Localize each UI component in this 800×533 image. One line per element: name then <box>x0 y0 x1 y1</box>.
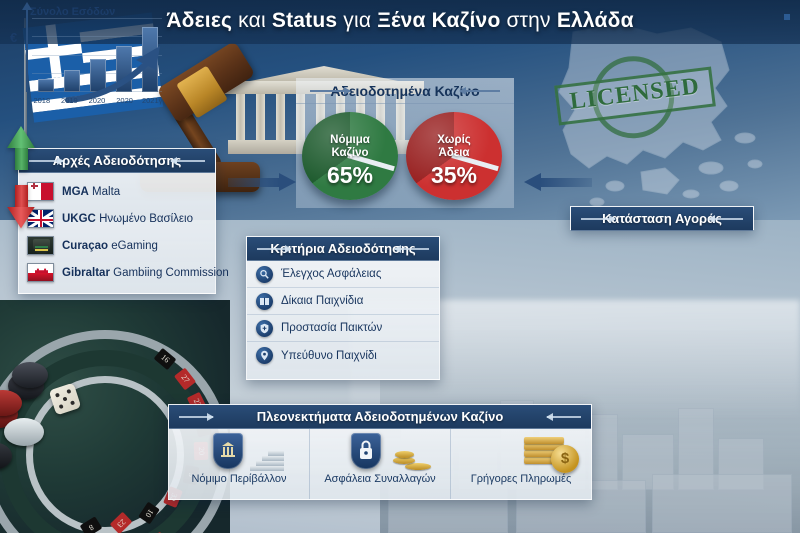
chart-x-label: 2020 <box>111 96 139 105</box>
benefits-heading-text: Πλεονεκτήματα Αδειοδοτημένων Καζίνο <box>257 409 504 424</box>
list-item[interactable]: UKGC Ηνωμένο Βασίλειο <box>27 205 215 232</box>
list-item[interactable]: Νόμιμο Περίβάλλον <box>169 429 309 499</box>
title-part-3: Status <box>272 9 337 32</box>
authority-desc: eGaming <box>108 240 158 252</box>
authority-label: UKGC Ηνωμένο Βασίλειο <box>62 213 193 225</box>
benefits-list: Νόμιμο Περίβάλλον <box>169 429 591 499</box>
infographic-canvas: 16 27 23 9 20 5 32 10 23 8 18 <box>0 0 800 533</box>
licensed-casinos-section: Αδειοδοτημένα Καζίνο Νόμιμα Καζίνο 65% Χ… <box>296 78 514 208</box>
curacao-badge-icon <box>27 236 54 255</box>
criteria-label: Προστασία Παικτών <box>281 322 382 334</box>
pie-section-heading: Αδειοδοτημένα Καζίνο <box>296 78 514 104</box>
heading-arrow-right-icon <box>395 248 429 250</box>
pie-label-line2: Καζίνο <box>331 147 368 159</box>
title-part-5: Ξένα Καζίνο <box>377 9 500 32</box>
criteria-label: Δίκαια Παιχνίδια <box>281 295 363 307</box>
pie-label-line1: Χωρίς <box>437 134 471 146</box>
market-status-heading: Κατάσταση Αγοράς <box>571 207 753 231</box>
list-item[interactable]: Προστασία Παικτών <box>247 315 439 342</box>
pie-percent-legal: 65% <box>302 162 398 189</box>
heading-arrow-left-icon <box>310 90 350 92</box>
heading-arrow-left-icon <box>257 248 291 250</box>
pie-heading-text: Αδειοδοτημένα Καζίνο <box>330 83 479 99</box>
benefit-label: Νόμιμο Περίβάλλον <box>169 473 309 485</box>
connector-arrow-left <box>524 173 592 191</box>
criteria-list: Έλεγχος Ασφάλειας Δίκαια Παιχνίδια Προστ… <box>247 261 439 369</box>
chart-x-label: 2021γ <box>138 96 166 105</box>
chart-title: Σύνολο Εσόδων <box>30 6 115 18</box>
pie-percent-unlicensed: 35% <box>406 162 502 189</box>
chart-plot-area <box>32 18 162 92</box>
heading-arrow-left-icon <box>581 218 615 220</box>
chart-x-label: 2019 <box>56 96 84 105</box>
location-pin-icon <box>256 347 273 364</box>
chart-x-labels: 2018 2019 2020 2020 2021γ <box>28 96 166 105</box>
licensing-authorities-panel: Αρχές Αδειοδότησης MGA Malta UKGC Ηνωμέν… <box>18 148 216 294</box>
market-status-heading-panel: Κατάσταση Αγοράς <box>570 206 754 230</box>
chart-x-label: 2020 <box>83 96 111 105</box>
bank-shield-icon <box>169 429 309 473</box>
list-item[interactable]: Ασφάλεια Συναλλαγών <box>309 429 450 499</box>
list-item[interactable]: Curaçao eGaming <box>27 232 215 259</box>
pie-label-line1: Νόμιμα <box>330 134 370 146</box>
authority-desc: Ηνωμένο Βασίλειο <box>96 213 193 225</box>
money-coin-icon: $ <box>451 429 591 473</box>
list-item[interactable]: $ Γρήγορες Πληρωμές <box>450 429 591 499</box>
authority-label: Gibraltar Gambiing Commission <box>62 267 229 279</box>
authority-name: Curaçao <box>62 240 108 252</box>
gibraltar-flag-icon <box>27 263 54 282</box>
chart-x-label: 2018 <box>28 96 56 105</box>
benefit-label: Γρήγορες Πληρωμές <box>451 473 591 485</box>
book-icon <box>256 293 273 310</box>
authority-desc: Malta <box>89 186 120 198</box>
arrow-up-icon <box>7 126 35 170</box>
list-item[interactable]: Gibraltar Gambiing Commission <box>27 259 215 286</box>
list-item[interactable]: Δίκαια Παιχνίδια <box>247 288 439 315</box>
criteria-label: Υπεύθυνο Παιχνίδι <box>281 350 377 362</box>
pie-chart-unlicensed: Χωρίς Άδεια 35% <box>406 112 502 208</box>
title-part-1: Άδειες <box>166 9 232 32</box>
list-item[interactable]: MGA Malta <box>27 178 215 205</box>
authorities-heading-text: Αρχές Αδειοδότησης <box>53 153 181 168</box>
authority-name: Gibraltar <box>62 267 110 279</box>
authority-name: UKGC <box>62 213 96 225</box>
authorities-list: MGA Malta UKGC Ηνωμένο Βασίλειο Curaçao … <box>19 173 215 286</box>
benefits-panel: Πλεονεκτήματα Αδειοδοτημένων Καζίνο <box>168 404 592 500</box>
pie-label-line2: Άδεια <box>438 147 469 159</box>
pie-label-legal: Νόμιμα Καζίνο <box>302 134 398 160</box>
title-part-4: για <box>343 9 371 32</box>
heading-arrow-left-icon <box>179 416 213 418</box>
authority-label: Curaçao eGaming <box>62 240 158 252</box>
pie-chart-legal: Νόμιμα Καζίνο 65% <box>302 112 398 208</box>
lock-shield-icon <box>310 429 450 473</box>
title-part-2: και <box>238 9 266 32</box>
market-heading-text: Κατάσταση Αγοράς <box>602 211 722 226</box>
heading-arrow-right-icon <box>171 160 205 162</box>
heading-arrow-right-icon <box>460 90 500 92</box>
magnifier-icon <box>256 266 273 283</box>
heading-arrow-right-icon <box>709 218 743 220</box>
authority-desc: Gambiing Commission <box>110 267 229 279</box>
chart-marker-dot <box>784 14 790 20</box>
shield-plus-icon <box>256 320 273 337</box>
chart-bar <box>38 79 54 92</box>
list-item[interactable]: Έλεγχος Ασφάλειας <box>247 261 439 288</box>
title-part-6: στην <box>507 9 551 32</box>
authorities-heading: Αρχές Αδειοδότησης <box>19 149 215 173</box>
pie-charts: Νόμιμα Καζίνο 65% Χωρίς Άδεια 35% <box>296 104 514 204</box>
chart-y-axis <box>26 8 28 92</box>
pie-label-unlicensed: Χωρίς Άδεια <box>406 134 502 160</box>
authority-label: MGA Malta <box>62 186 120 198</box>
benefit-label: Ασφάλεια Συναλλαγών <box>310 473 450 485</box>
licensing-criteria-panel: Κριτήρια Αδειοδότησης Έλεγχος Ασφάλειας … <box>246 236 440 380</box>
connector-arrow-right <box>228 173 296 191</box>
heading-arrow-right-icon <box>547 416 581 418</box>
title-part-7: Ελλάδα <box>557 9 634 32</box>
criteria-label: Έλεγχος Ασφάλειας <box>281 268 381 280</box>
arrow-down-icon <box>7 185 35 229</box>
benefits-heading: Πλεονεκτήματα Αδειοδοτημένων Καζίνο <box>169 405 591 429</box>
chart-ylabel: € <box>10 30 17 45</box>
authority-name: MGA <box>62 186 89 198</box>
criteria-heading: Κριτήρια Αδειοδότησης <box>247 237 439 261</box>
list-item[interactable]: Υπεύθυνο Παιχνίδι <box>247 342 439 369</box>
